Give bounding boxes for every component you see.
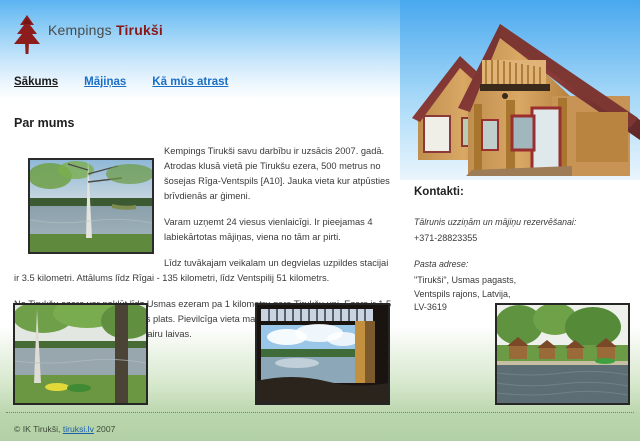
- page-title: Par mums: [0, 100, 400, 130]
- lake-boats-photo: [13, 303, 148, 405]
- phone-value: +371-28823355: [414, 232, 624, 245]
- copyright-prefix: © IK Tirukši,: [14, 424, 63, 434]
- photo-gallery: [0, 303, 640, 407]
- wooden-cabin-photo: [400, 0, 640, 180]
- paragraph-distances: Līdz tuvākajam veikalam un degvielas uzp…: [14, 256, 392, 286]
- address-line-1: "Tirukši", Usmas pagasts,: [414, 274, 624, 288]
- phone-label: Tālrunis uzziņām un mājiņu rezervēšanai:: [414, 216, 624, 229]
- footer-copyright: © IK Tirukši, tiruksi.lv 2007: [14, 424, 115, 434]
- address-line-2: Ventspils rajons, Latvija,: [414, 288, 624, 302]
- address-label: Pasta adrese:: [414, 258, 624, 271]
- main-navigation[interactable]: SākumsMājiņasKā mūs atrast: [14, 76, 254, 88]
- footer-site-link[interactable]: tiruksi.lv: [63, 424, 94, 434]
- nav-item-majinas[interactable]: Mājiņas: [84, 76, 126, 88]
- nav-item-sakums[interactable]: Sākums: [14, 76, 58, 88]
- nav-item-ka-mus-atrast[interactable]: Kā mūs atrast: [152, 76, 228, 88]
- cabins-across-lake-photo: [495, 303, 630, 405]
- brand-name: Tirukši: [116, 22, 163, 38]
- copyright-year: 2007: [94, 424, 116, 434]
- window-lake-view-photo: [255, 303, 390, 405]
- contacts-title: Kontakti:: [414, 186, 624, 198]
- site-brand: Kempings Tirukši: [48, 22, 163, 38]
- pine-tree-icon: [10, 14, 44, 54]
- lake-birch-photo: [28, 158, 154, 254]
- footer-divider: [6, 412, 634, 413]
- brand-prefix: Kempings: [48, 22, 116, 38]
